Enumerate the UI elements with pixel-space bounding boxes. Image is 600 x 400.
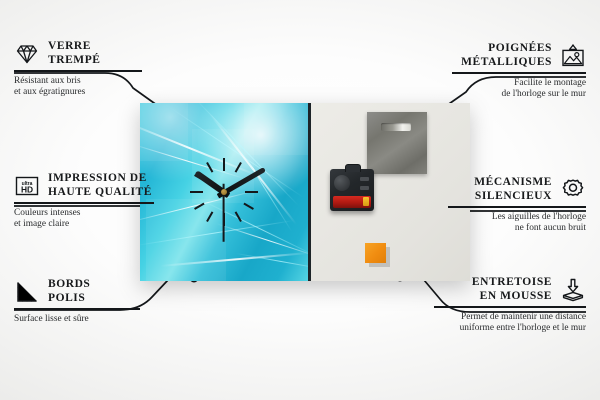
feature-title: ENTRETOISE EN MOUSSE [472, 276, 552, 303]
feature-desc: Résistant aux bris et aux égratignures [14, 76, 142, 99]
movement-lug [345, 164, 361, 172]
feature-mecanisme-silencieux: MÉCANISME SILENCIEUX Les aiguilles de l'… [448, 176, 586, 235]
feature-desc: Facilite le montage de l'horloge sur le … [452, 78, 586, 101]
feature-rule [452, 72, 586, 74]
ultra-hd-icon: ultra HD [14, 173, 40, 199]
foam-spacer [365, 243, 386, 263]
bevel-edge-icon [14, 279, 40, 305]
feature-title: IMPRESSION DE HAUTE QUALITÉ [48, 172, 152, 199]
movement-knob-bottom [360, 186, 369, 190]
svg-text:HD: HD [21, 184, 33, 194]
feature-title: VERRE TREMPÉ [48, 40, 101, 67]
feature-rule [448, 206, 586, 208]
movement-dial [334, 175, 350, 191]
feature-impression-hd: ultra HD IMPRESSION DE HAUTE QUALITÉ Cou… [14, 172, 154, 231]
quartz-movement-box [330, 169, 374, 211]
gear-icon [560, 177, 586, 203]
clock-back-panel [311, 103, 470, 281]
feature-desc: Les aiguilles de l'horloge ne font aucun… [448, 212, 586, 235]
feature-rule [434, 306, 586, 308]
battery [333, 196, 371, 208]
feature-entretoise-mousse: ENTRETOISE EN MOUSSE Permet de maintenir… [434, 276, 586, 335]
product-image [140, 103, 470, 281]
clock-dial [140, 103, 308, 281]
feature-rule [14, 308, 140, 310]
clock-face-panel [140, 103, 311, 281]
movement-knob-top [360, 177, 369, 181]
metal-hanger-plate [367, 112, 427, 174]
diamond-icon [14, 41, 40, 67]
feature-desc: Permet de maintenir une distance uniform… [434, 312, 586, 335]
feature-rule [14, 70, 142, 72]
feature-poignees-metalliques: POIGNÉES MÉTALLIQUES Facilite le montage… [452, 42, 586, 101]
feature-desc: Couleurs intenses et image claire [14, 208, 154, 231]
clock-center-pin [221, 189, 227, 195]
press-down-foam-icon [560, 277, 586, 303]
feature-bords-polis: BORDS POLIS Surface lisse et sûre [14, 278, 140, 325]
feature-title: POIGNÉES MÉTALLIQUES [461, 42, 552, 69]
picture-frame-hanger-icon [560, 43, 586, 69]
infographic-canvas: VERRE TREMPÉ Résistant aux bris et aux é… [0, 0, 600, 400]
feature-rule [14, 202, 154, 204]
feature-title: MÉCANISME SILENCIEUX [474, 176, 552, 203]
feature-desc: Surface lisse et sûre [14, 314, 140, 326]
feature-title: BORDS POLIS [48, 278, 90, 305]
feature-verre-trempe: VERRE TREMPÉ Résistant aux bris et aux é… [14, 40, 142, 99]
